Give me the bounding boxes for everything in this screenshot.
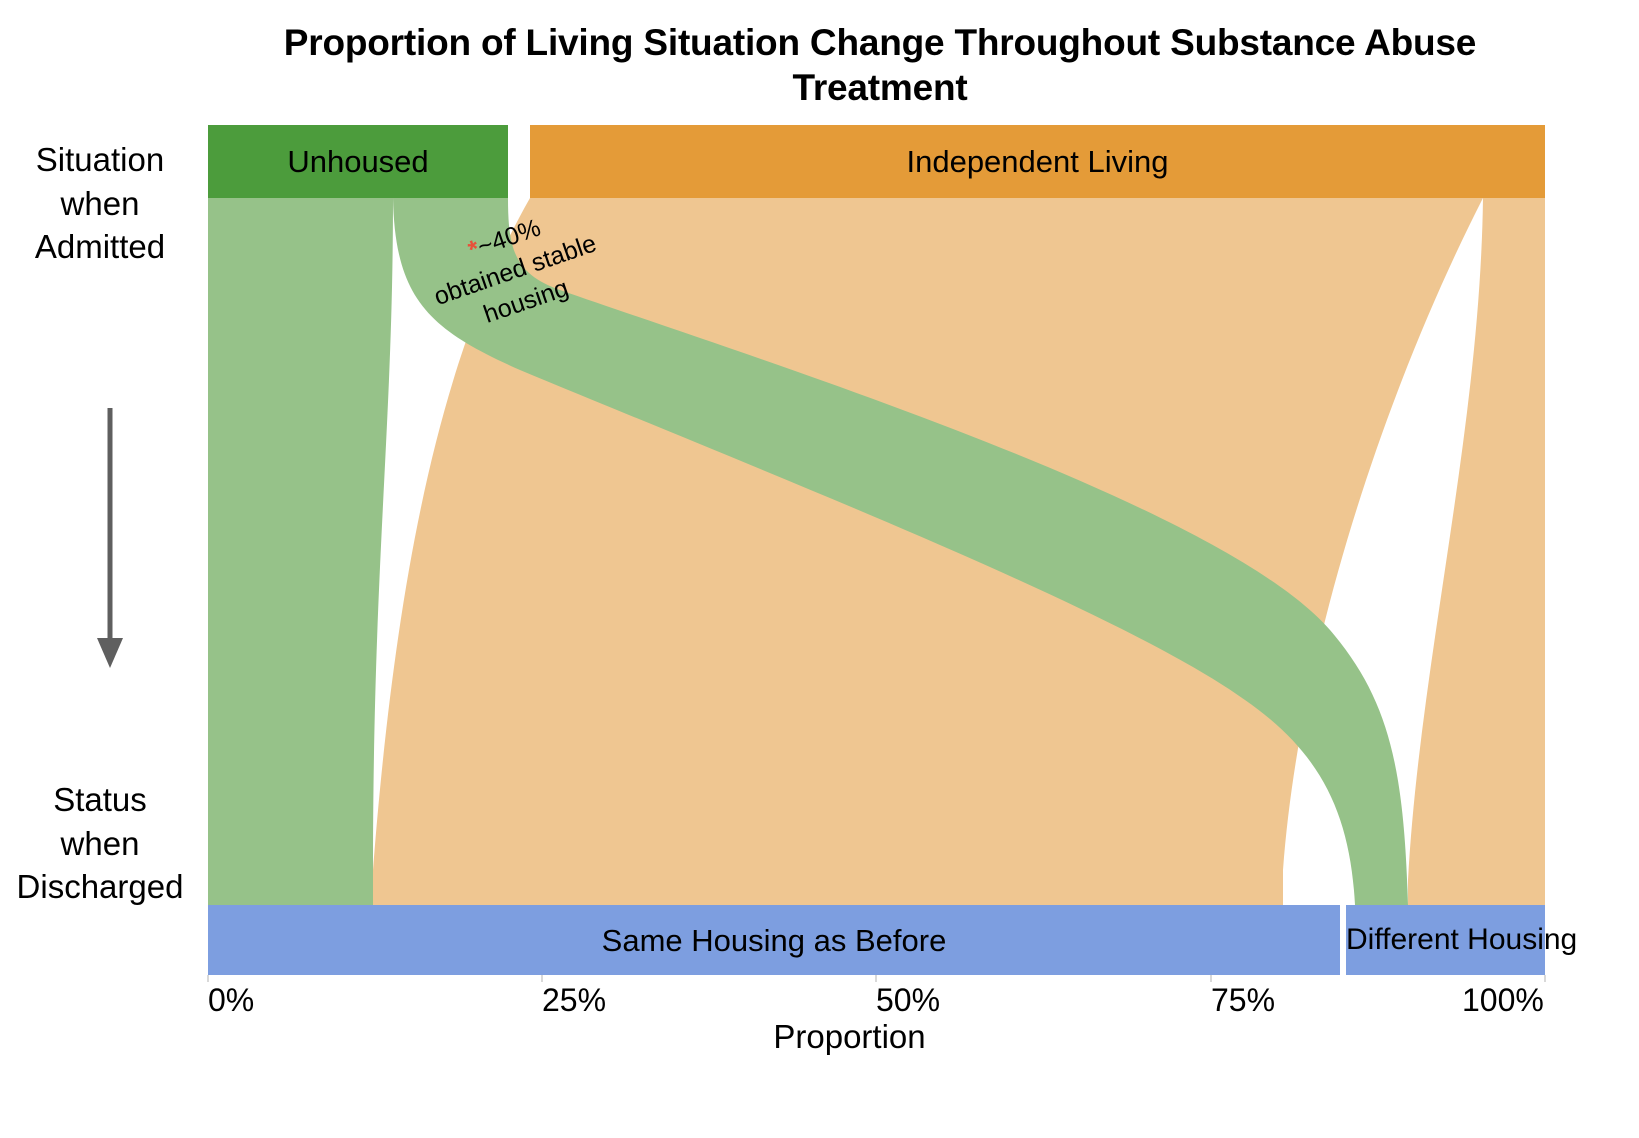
node-label-different-housing: Different Housing (1346, 925, 1545, 955)
sankey-chart-canvas: Proportion of Living Situation Change Th… (0, 0, 1639, 1138)
node-label-same-housing: Same Housing as Before (208, 925, 1340, 956)
x-axis-ticks (208, 975, 1545, 982)
downward-arrow-icon (97, 408, 123, 668)
x-axis-title: Proportion (0, 1018, 1639, 1056)
node-label-unhoused: Unhoused (208, 146, 508, 177)
x-tick-label-0: 0% (208, 982, 254, 1019)
x-axis-title-text: Proportion (773, 1018, 925, 1056)
x-tick-label-75: 75% (1211, 982, 1275, 1019)
x-tick-label-25: 25% (542, 982, 606, 1019)
x-tick-label-100: 100% (1462, 982, 1544, 1019)
node-label-independent-living: Independent Living (530, 146, 1545, 177)
x-tick-label-50: 50% (876, 982, 940, 1019)
